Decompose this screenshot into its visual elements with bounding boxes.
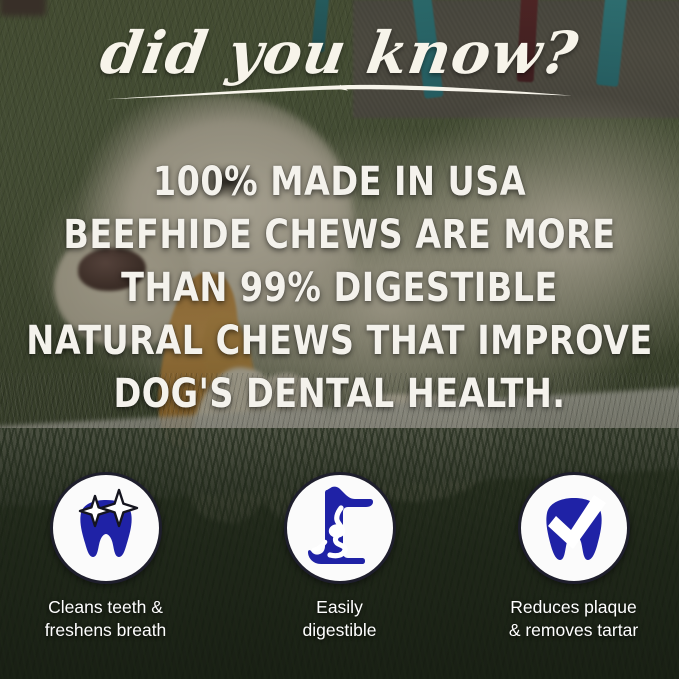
sparkling-tooth-icon <box>64 486 148 570</box>
badge-caption: Reduces plaque & removes tartar <box>509 596 638 642</box>
dog-digestion-icon <box>296 484 384 572</box>
copy-line-2: BEEFHIDE CHEWS ARE MORE <box>24 209 655 262</box>
badge-caption: Cleans teeth & freshens breath <box>45 596 167 642</box>
feature-badge-reduces-plaque: Reduces plaque & removes tartar <box>490 472 658 642</box>
feature-badge-cleans-teeth: Cleans teeth & freshens breath <box>22 472 190 642</box>
badge-disc <box>284 472 396 584</box>
main-copy: 100% MADE IN USA BEEFHIDE CHEWS ARE MORE… <box>0 156 679 421</box>
tooth-checkmark-icon <box>532 486 616 570</box>
badge-disc <box>518 472 630 584</box>
swoosh-underline-icon <box>104 84 574 102</box>
copy-line-1: 100% MADE IN USA <box>24 156 655 209</box>
copy-line-4: NATURAL CHEWS THAT IMPROVE <box>24 315 655 368</box>
headline: did you know? <box>0 24 679 82</box>
promo-infographic: did you know? 100% MADE IN USA BEEFHIDE … <box>0 0 679 679</box>
copy-line-5: DOG'S DENTAL HEALTH. <box>24 368 655 421</box>
badge-disc <box>50 472 162 584</box>
feature-badges: Cleans teeth & freshens breath Easily di… <box>0 472 679 642</box>
copy-line-3: THAN 99% DIGESTIBLE <box>24 262 655 315</box>
badge-caption: Easily digestible <box>303 596 377 642</box>
feature-badge-easily-digestible: Easily digestible <box>256 472 424 642</box>
